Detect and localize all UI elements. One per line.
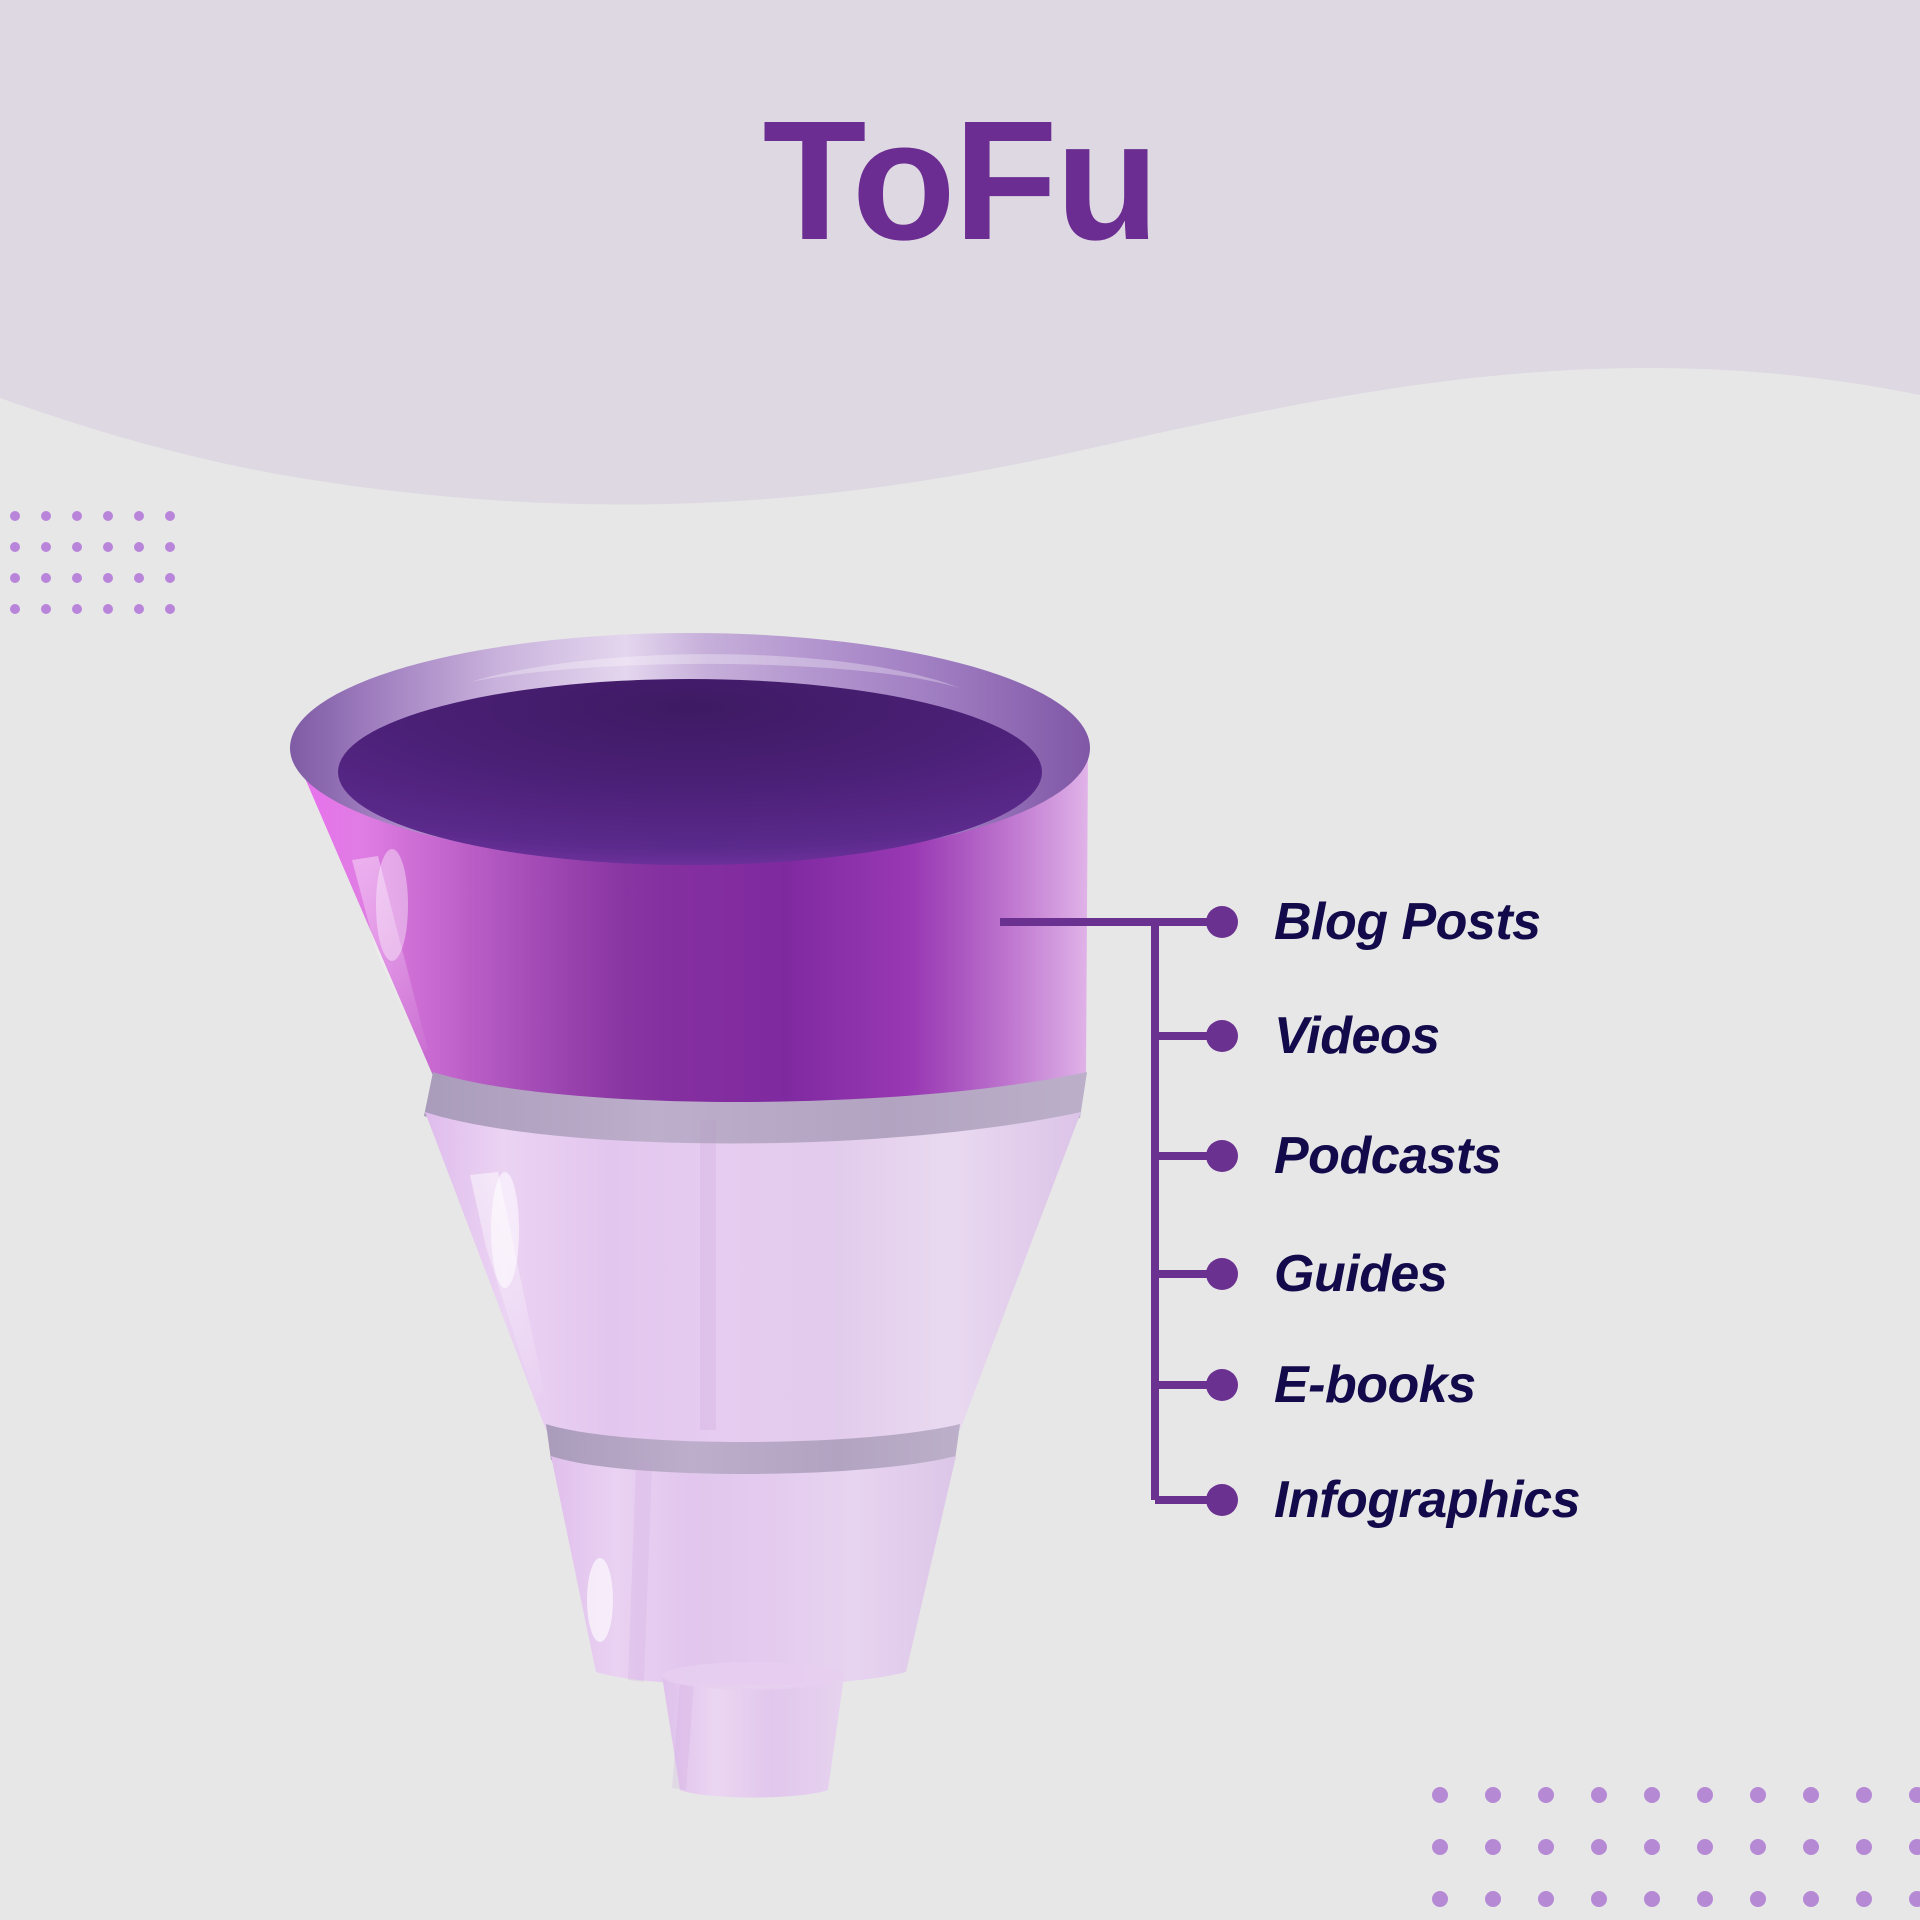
funnel-label-podcasts[interactable]: Podcasts: [1274, 1126, 1501, 1186]
funnel-label-blog-posts[interactable]: Blog Posts: [1274, 892, 1541, 952]
connector-dot-3[interactable]: [1206, 1258, 1238, 1290]
connector-lines-layer: [0, 0, 1920, 1920]
connector-dot-2[interactable]: [1206, 1140, 1238, 1172]
funnel-label-guides[interactable]: Guides: [1274, 1244, 1447, 1304]
connector-dot-5[interactable]: [1206, 1484, 1238, 1516]
infographic-canvas: ToFu: [0, 0, 1920, 1920]
connector-dot-1[interactable]: [1206, 1020, 1238, 1052]
funnel-label-infographics[interactable]: Infographics: [1274, 1470, 1580, 1530]
funnel-label-videos[interactable]: Videos: [1274, 1006, 1440, 1066]
connector-dot-4[interactable]: [1206, 1369, 1238, 1401]
connector-dots: [1206, 906, 1238, 1516]
funnel-label-e-books[interactable]: E-books: [1274, 1355, 1476, 1415]
connector-dot-0[interactable]: [1206, 906, 1238, 938]
